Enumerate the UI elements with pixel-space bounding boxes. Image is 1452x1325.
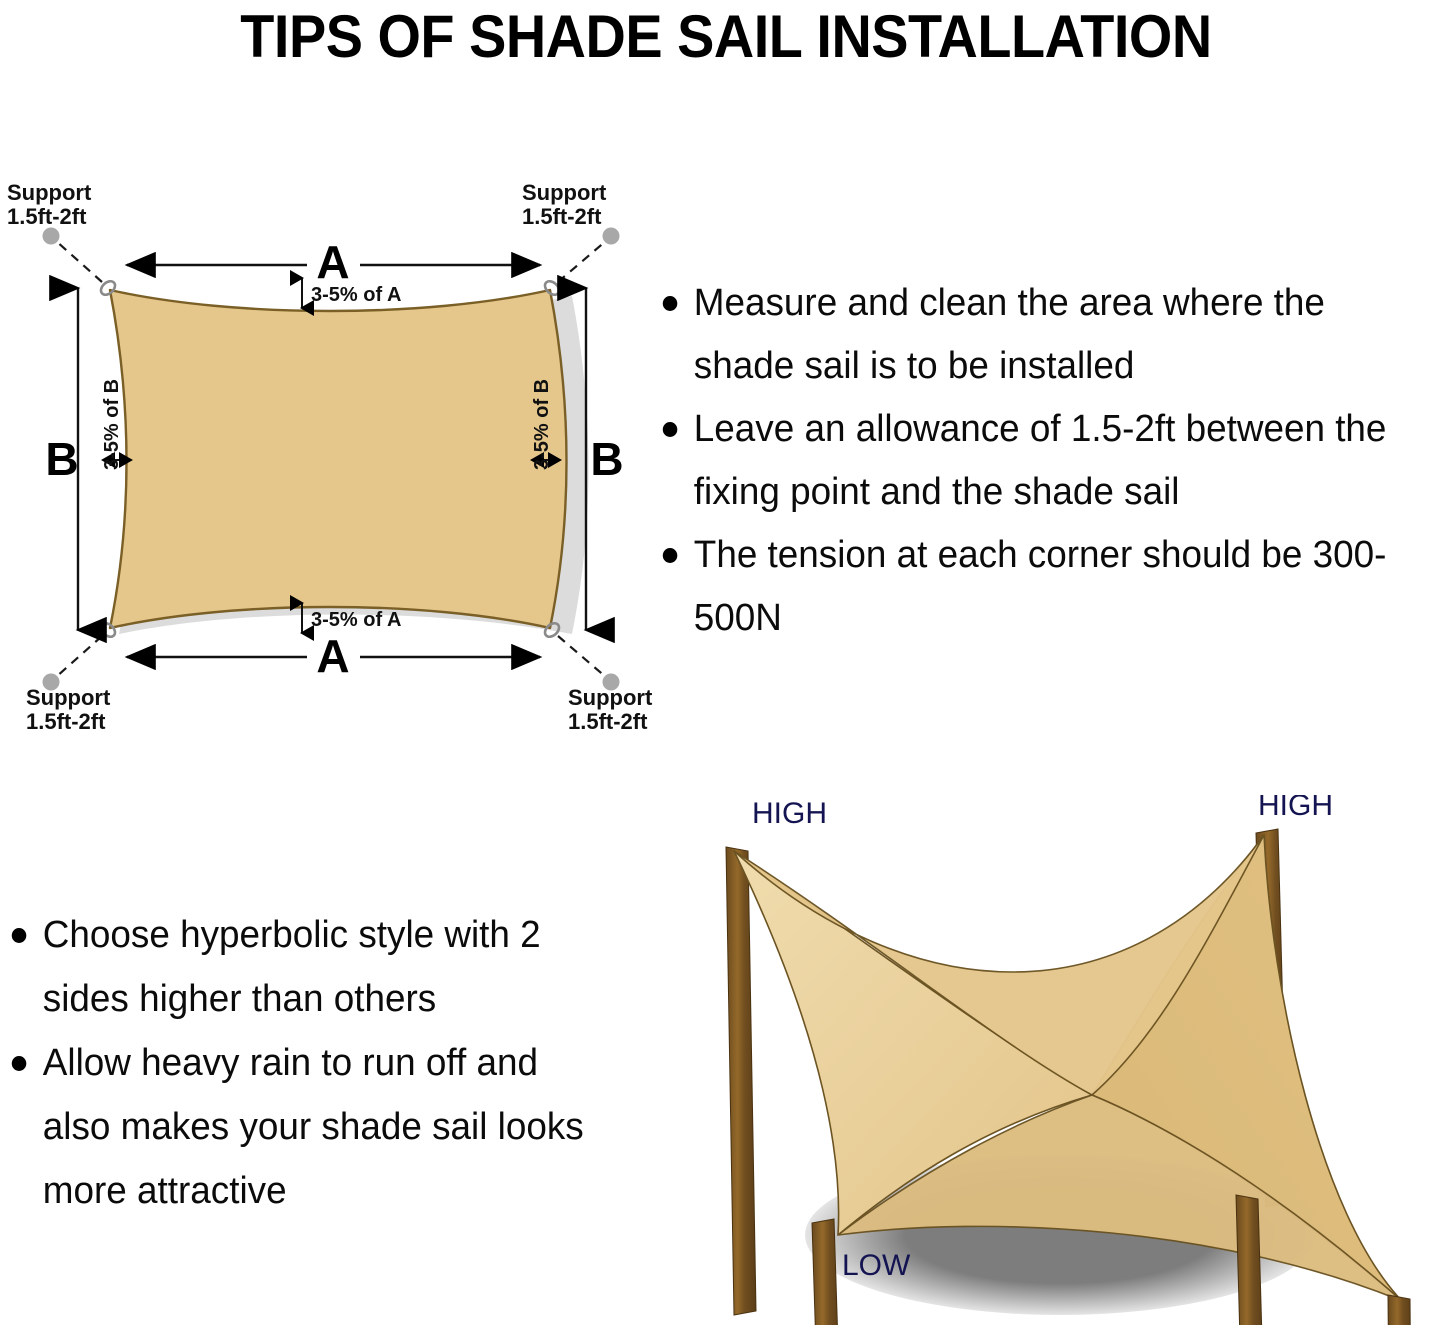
tip-item: Measure and clean the area where the sha… bbox=[655, 272, 1431, 398]
svg-text:Support: Support bbox=[568, 685, 653, 710]
shade-sail-shape bbox=[110, 290, 567, 628]
dimension-label-a-bottom: A bbox=[316, 630, 349, 682]
anchor-dot-top-left bbox=[43, 228, 60, 245]
tip-item: Allow heavy rain to run off and also mak… bbox=[4, 1031, 605, 1223]
svg-text:1.5ft-2ft: 1.5ft-2ft bbox=[26, 709, 106, 734]
svg-text:1.5ft-2ft: 1.5ft-2ft bbox=[568, 709, 648, 734]
label-high-right: HIGH bbox=[1258, 795, 1333, 822]
svg-text:1.5ft-2ft: 1.5ft-2ft bbox=[7, 204, 87, 229]
svg-text:Support: Support bbox=[7, 180, 92, 205]
curve-label-right: 3-5% of B bbox=[531, 379, 553, 470]
svg-text:1.5ft-2ft: 1.5ft-2ft bbox=[522, 204, 602, 229]
tips-list-top: Measure and clean the area where the sha… bbox=[655, 272, 1452, 650]
tip-item: Choose hyperbolic style with 2 sides hig… bbox=[4, 903, 605, 1031]
label-low-left: LOW bbox=[842, 1249, 911, 1282]
tips-list-bottom: Choose hyperbolic style with 2 sides hig… bbox=[4, 903, 624, 1223]
dimension-label-b-right: B bbox=[590, 433, 623, 485]
tip-item: Leave an allowance of 1.5-2ft between th… bbox=[655, 398, 1431, 524]
infographic-page: TIPS OF SHADE SAIL INSTALLATION bbox=[0, 0, 1452, 1325]
rect-sail-diagram: Support 1.5ft-2ft Support 1.5ft-2ft Supp… bbox=[0, 160, 660, 740]
curve-label-bottom: 3-5% of A bbox=[311, 609, 401, 631]
support-label-top-right: Support 1.5ft-2ft bbox=[522, 180, 607, 229]
post-low-right bbox=[1388, 1295, 1412, 1325]
label-high-left: HIGH bbox=[752, 797, 827, 830]
support-label-bottom-left: Support 1.5ft-2ft bbox=[26, 685, 111, 734]
hyperbolic-sail-diagram: HIGH HIGH LOW LOW bbox=[660, 795, 1452, 1325]
svg-text:Support: Support bbox=[26, 685, 111, 710]
post-high-left bbox=[726, 847, 756, 1315]
dimension-label-b-left: B bbox=[45, 433, 78, 485]
support-label-top-left: Support 1.5ft-2ft bbox=[7, 180, 92, 229]
dimension-label-a-top: A bbox=[316, 236, 349, 288]
rect-sail-svg: Support 1.5ft-2ft Support 1.5ft-2ft Supp… bbox=[0, 160, 660, 740]
page-title: TIPS OF SHADE SAIL INSTALLATION bbox=[51, 2, 1401, 71]
anchor-dot-top-right bbox=[603, 228, 620, 245]
curve-label-left: 3-5% of B bbox=[101, 379, 123, 470]
tip-item: The tension at each corner should be 300… bbox=[655, 524, 1431, 650]
svg-text:Support: Support bbox=[522, 180, 607, 205]
curve-label-top: 3-5% of A bbox=[311, 284, 401, 306]
support-label-bottom-right: Support 1.5ft-2ft bbox=[568, 685, 653, 734]
hyperbolic-sail-svg: HIGH HIGH LOW LOW bbox=[660, 795, 1452, 1325]
